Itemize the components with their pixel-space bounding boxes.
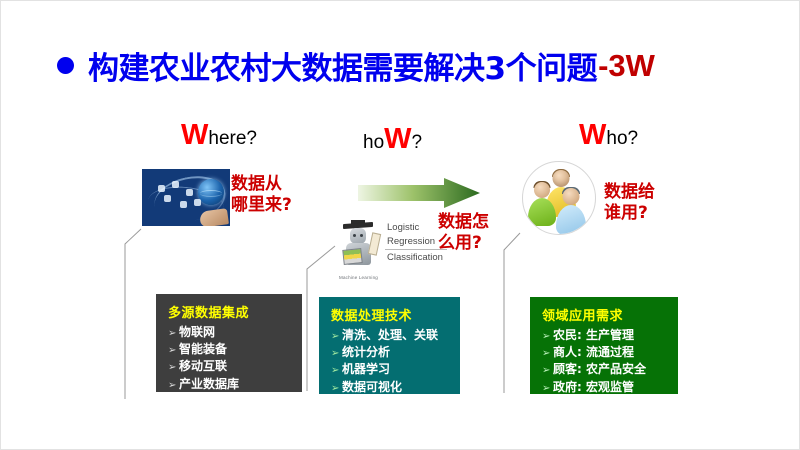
box-data-processing-tech: 数据处理技术 ➢清洗、处理、关联 ➢统计分析 ➢机器学习 ➢数据可视化 [319, 297, 460, 394]
box-multi-source-integration: 多源数据集成 ➢物联网 ➢智能装备 ➢移动互联 ➢产业数据库 [156, 294, 302, 392]
list-item: ➢清洗、处理、关联 [331, 327, 450, 344]
label-who-tail: ho? [606, 128, 638, 149]
arrow-bullet-icon: ➢ [542, 364, 553, 378]
big-data-network-photo [142, 169, 230, 226]
person-green [528, 182, 556, 224]
list-item: ➢移动互联 [168, 358, 292, 375]
label-how-tail: ? [412, 132, 423, 153]
box-tech-title: 数据处理技术 [331, 305, 450, 324]
label-who: Who? [579, 121, 638, 150]
box-domain-application-needs: 领域应用需求 ➢农民: 生产管理 ➢商人: 流通过程 ➢顾客: 农产品安全 ➢政… [530, 297, 678, 394]
box-apps-list: ➢农民: 生产管理 ➢商人: 流通过程 ➢顾客: 农产品安全 ➢政府: 宏观监管 [542, 327, 668, 396]
arrow-bullet-icon: ➢ [542, 347, 553, 361]
list-item: ➢商人: 流通过程 [542, 344, 668, 361]
slide-canvas: 构建农业农村大数据需要解决3个问题 -3W Where? hoW? Who? 数… [0, 0, 800, 450]
label-who-w: W [579, 119, 606, 151]
arrow-bullet-icon: ➢ [542, 382, 553, 396]
list-item-label: 移动互联 [179, 359, 227, 373]
arrow-bullet-icon: ➢ [168, 344, 179, 358]
ml-line-classification: Classification [387, 252, 443, 263]
box-tech-list: ➢清洗、处理、关联 ➢统计分析 ➢机器学习 ➢数据可视化 [331, 327, 450, 396]
list-item: ➢智能装备 [168, 341, 292, 358]
list-item-label: 顾客: 农产品安全 [553, 362, 646, 376]
bullet-circle-icon [57, 57, 74, 74]
page-title: 构建农业农村大数据需要解决3个问题 -3W [57, 43, 655, 88]
arrow-bullet-icon: ➢ [331, 364, 342, 378]
list-item-label: 数据可视化 [342, 380, 402, 394]
list-item: ➢统计分析 [331, 344, 450, 361]
list-item: ➢机器学习 [331, 361, 450, 378]
three-people-icon [522, 161, 596, 235]
list-item: ➢产业数据库 [168, 376, 292, 393]
list-item: ➢农民: 生产管理 [542, 327, 668, 344]
label-where: Where? [181, 121, 257, 150]
list-item: ➢数据可视化 [331, 379, 450, 396]
label-how: hoW? [363, 125, 422, 154]
box-apps-title: 领域应用需求 [542, 305, 668, 324]
person-blue [556, 188, 586, 232]
ml-line-logistic: Logistic [387, 222, 419, 233]
page-title-suffix: -3W [598, 48, 655, 84]
list-item-label: 智能装备 [179, 342, 227, 356]
ml-caption: Machine Learning [339, 275, 378, 280]
green-arrow-icon [358, 178, 480, 208]
callout-where: 数据从 哪里来? [231, 174, 292, 215]
list-item: ➢政府: 宏观监管 [542, 379, 668, 396]
list-item: ➢物联网 [168, 324, 292, 341]
list-item-label: 机器学习 [342, 362, 390, 376]
arrow-bullet-icon: ➢ [168, 379, 179, 393]
arrow-bullet-icon: ➢ [331, 330, 342, 344]
list-item-label: 清洗、处理、关联 [342, 328, 438, 342]
arrow-bullet-icon: ➢ [331, 382, 342, 396]
box-sources-title: 多源数据集成 [168, 302, 292, 321]
label-where-tail: here? [208, 128, 257, 149]
machine-learning-robot-icon [339, 221, 379, 267]
list-item: ➢顾客: 农产品安全 [542, 361, 668, 378]
list-item-label: 物联网 [179, 325, 215, 339]
list-item-label: 农民: 生产管理 [553, 328, 634, 342]
list-item-label: 政府: 宏观监管 [553, 380, 634, 394]
arrow-bullet-icon: ➢ [168, 327, 179, 341]
globe-icon [198, 179, 224, 205]
label-where-w: W [181, 119, 208, 151]
box-sources-list: ➢物联网 ➢智能装备 ➢移动互联 ➢产业数据库 [168, 324, 292, 393]
machine-learning-graphic: Machine Learning Logistic Regression Cla… [337, 218, 449, 278]
list-item-label: 商人: 流通过程 [553, 345, 634, 359]
list-item-label: 统计分析 [342, 345, 390, 359]
arrow-bullet-icon: ➢ [542, 330, 553, 344]
callout-who: 数据给 谁用? [604, 182, 655, 223]
label-how-lead: ho [363, 132, 384, 153]
label-how-w: W [384, 123, 411, 155]
callout-how: 数据怎 么用? [438, 212, 489, 253]
page-title-text: 构建农业农村大数据需要解决3个问题 [88, 43, 597, 88]
arrow-bullet-icon: ➢ [168, 361, 179, 375]
ml-line-regression: Regression [387, 236, 435, 247]
arrow-bullet-icon: ➢ [331, 347, 342, 361]
list-item-label: 产业数据库 [179, 377, 239, 391]
